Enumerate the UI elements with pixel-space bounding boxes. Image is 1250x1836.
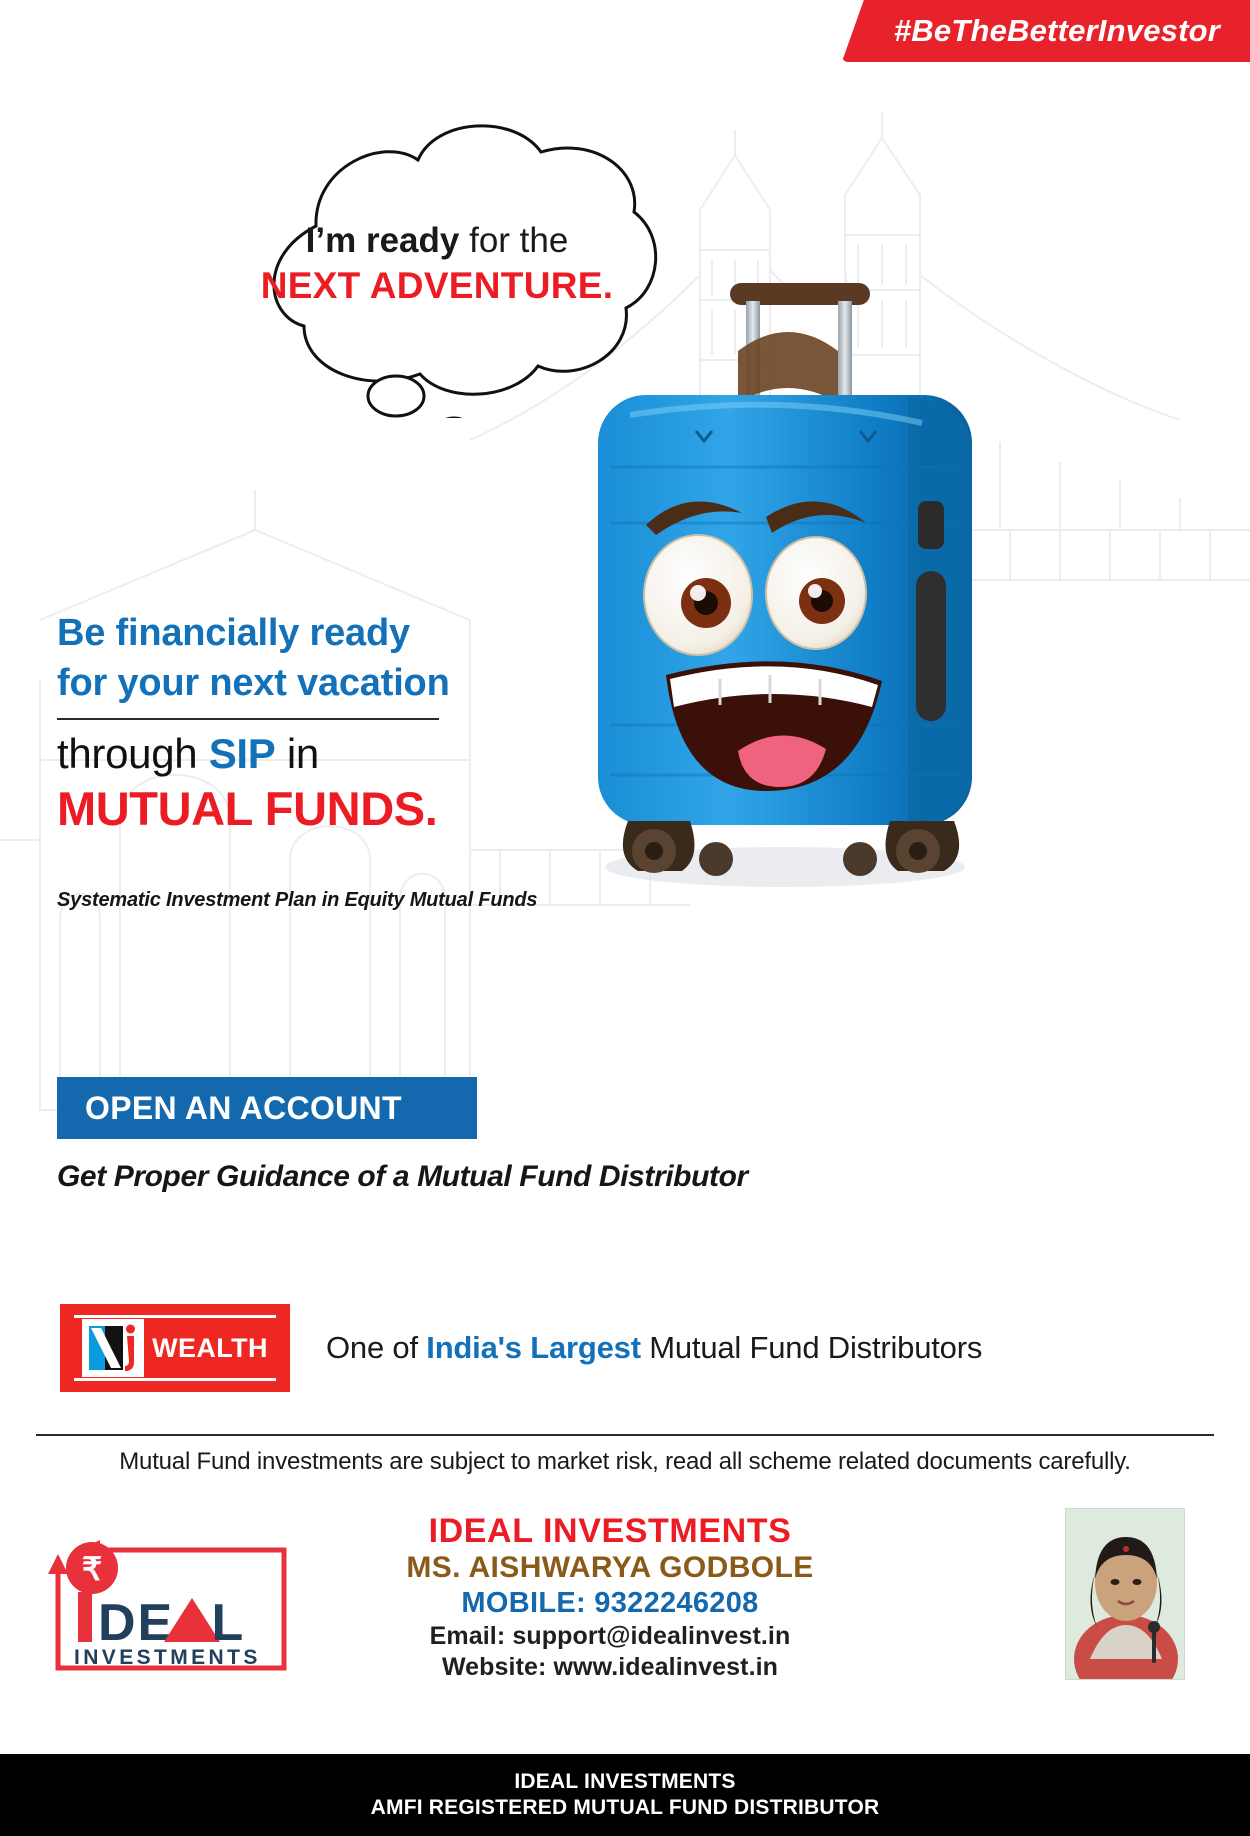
nj-monogram-svg: [85, 1322, 141, 1374]
svg-text:L: L: [195, 1594, 245, 1652]
bubble-line-2: NEXT ADVENTURE.: [252, 263, 622, 308]
hashtag-text: #BeTheBetterInvestor: [894, 13, 1220, 49]
headline-through-prefix: through: [57, 730, 209, 777]
nj-tagline: One of India's Largest Mutual Fund Distr…: [326, 1330, 982, 1366]
headline-subtitle: Systematic Investment Plan in Equity Mut…: [57, 889, 617, 912]
nj-tagline-highlight: India's Largest: [426, 1330, 641, 1365]
advisor-portrait: [1065, 1508, 1185, 1680]
contact-email[interactable]: Email: support@idealinvest.in: [330, 1621, 890, 1653]
headline-blue-line-2: for your next vacation: [57, 658, 617, 708]
contact-person: MS. AISHWARYA GODBOLE: [330, 1550, 890, 1586]
disclaimer-divider: [36, 1434, 1214, 1436]
advisor-portrait-svg: [1066, 1509, 1185, 1680]
contact-company: IDEAL INVESTMENTS: [330, 1512, 890, 1550]
contact-mobile[interactable]: MOBILE: 9322246208: [330, 1586, 890, 1621]
poster-canvas: #BeTheBetterInvestor I’m ready for the N…: [0, 0, 1250, 1836]
disclaimer-text: Mutual Fund investments are subject to m…: [0, 1448, 1250, 1476]
guidance-text: Get Proper Guidance of a Mutual Fund Dis…: [57, 1160, 748, 1194]
suitcase-character-illustration: [570, 255, 1000, 895]
headline-divider: [57, 718, 439, 720]
open-an-account-label: OPEN AN ACCOUNT: [85, 1090, 402, 1127]
svg-text:DE: DE: [98, 1594, 174, 1652]
headline-block: Be financially ready for your next vacat…: [57, 608, 617, 912]
bubble-line-1: I’m ready for the: [252, 220, 622, 263]
open-an-account-button[interactable]: OPEN AN ACCOUNT: [57, 1077, 477, 1139]
bubble-line-1-rest: for the: [459, 221, 568, 260]
footer-bar-line-2: AMFI REGISTERED MUTUAL FUND DISTRIBUTOR: [371, 1796, 880, 1820]
nj-wealth-logo: WEALTH: [60, 1304, 290, 1392]
hashtag-ribbon: #BeTheBetterInvestor: [842, 0, 1250, 62]
nj-wealth-row: WEALTH One of India's Largest Mutual Fun…: [60, 1304, 982, 1392]
nj-monogram-icon: [82, 1319, 144, 1377]
ideal-investments-logo: ₹ DE L INVESTMENTS: [40, 1520, 290, 1680]
headline-blue: Be financially ready for your next vacat…: [57, 608, 617, 708]
headline-through: through SIP in: [57, 728, 617, 779]
headline-blue-line-1: Be financially ready: [57, 608, 617, 658]
rupee-icon: ₹: [82, 1551, 102, 1587]
bubble-line-1-bold: I’m ready: [306, 221, 460, 260]
ideal-logo-svg: ₹ DE L INVESTMENTS: [40, 1520, 290, 1680]
footer-bar-line-1: IDEAL INVESTMENTS: [514, 1770, 735, 1794]
suitcase-svg: [570, 255, 1000, 895]
headline-sip: SIP: [209, 730, 276, 777]
contact-block: IDEAL INVESTMENTS MS. AISHWARYA GODBOLE …: [330, 1512, 890, 1684]
contact-website[interactable]: Website: www.idealinvest.in: [330, 1652, 890, 1684]
svg-text:INVESTMENTS: INVESTMENTS: [74, 1646, 261, 1669]
headline-mutual-funds: MUTUAL FUNDS.: [57, 780, 617, 837]
nj-tagline-prefix: One of: [326, 1330, 426, 1365]
nj-wealth-label: WEALTH: [152, 1333, 268, 1364]
headline-through-suffix: in: [276, 730, 319, 777]
nj-tagline-suffix: Mutual Fund Distributors: [641, 1330, 982, 1365]
footer-bar: IDEAL INVESTMENTS AMFI REGISTERED MUTUAL…: [0, 1754, 1250, 1836]
